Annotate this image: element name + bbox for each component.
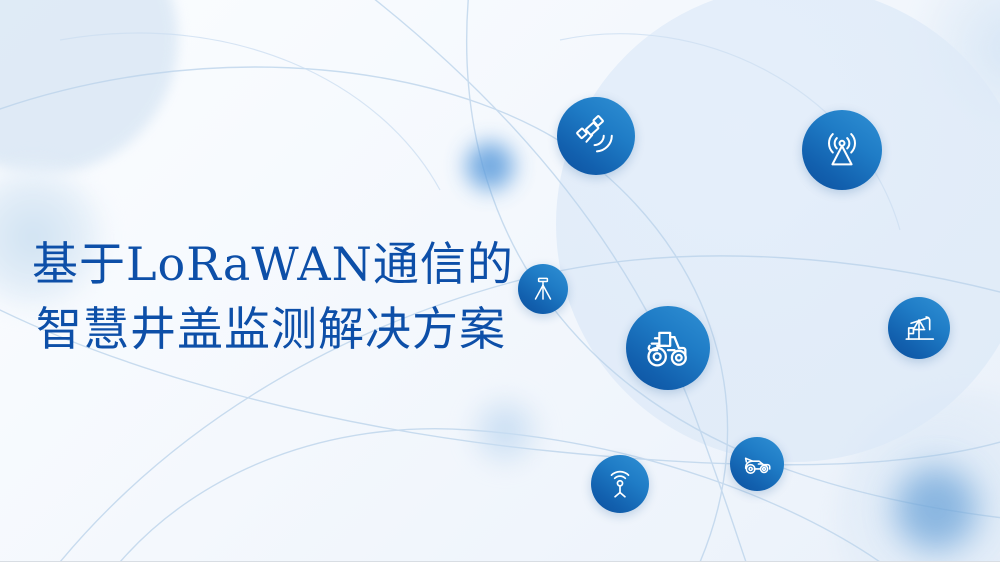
wireless-sensor-icon-node[interactable] [591,455,649,513]
background-blob-top-right [918,0,1000,124]
accent-dot-primary [466,142,514,190]
survey-tripod-icon [528,274,558,304]
tractor-icon-node[interactable] [626,306,710,390]
satellite-icon [573,113,619,159]
title-line-1: 基于LoRaWAN通信的 [32,232,514,297]
presentation-slide: 基于LoRaWAN通信的 智慧井盖监测解决方案 [0,0,1000,562]
harvester-icon [740,447,774,481]
wireless-sensor-icon [603,467,637,501]
background-blob-bottom-right [836,390,1000,562]
background-sphere [556,0,1000,462]
oil-pumpjack-icon-node[interactable] [888,297,950,359]
satellite-icon-node[interactable] [557,97,635,175]
accent-dot-bottom-right [895,468,977,550]
slide-title: 基于LoRaWAN通信的 智慧井盖监测解决方案 [32,232,514,363]
survey-tripod-icon-node[interactable] [518,264,568,314]
oil-pumpjack-icon [900,309,938,347]
accent-dot-pale [462,388,548,474]
background-blob-top-left [0,0,178,174]
radio-tower-icon-node[interactable] [802,110,882,190]
radio-tower-icon [819,127,865,173]
harvester-icon-node[interactable] [730,437,784,491]
tractor-icon [642,322,694,374]
title-line-2: 智慧井盖监测解决方案 [32,297,514,362]
